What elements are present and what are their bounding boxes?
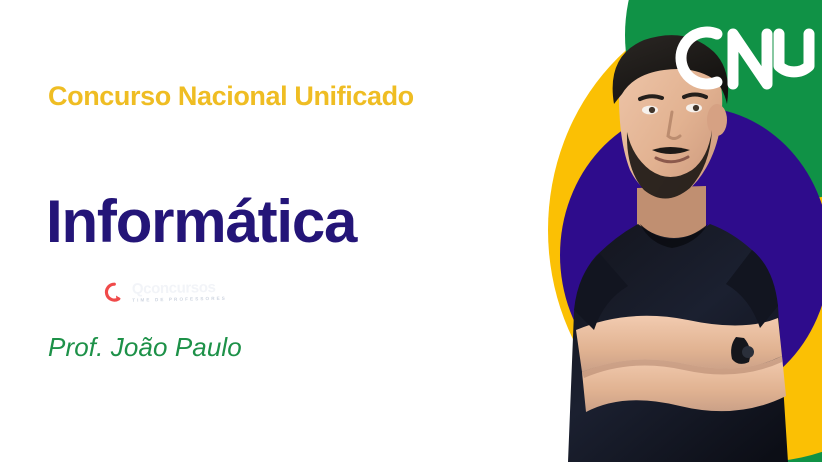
slide-text-column: Concurso Nacional Unificado Informática … xyxy=(0,0,540,462)
slide-title: Informática xyxy=(46,192,356,252)
purple-circle-shape xyxy=(560,107,822,403)
brand-graphic-panel xyxy=(520,0,822,462)
presentation-slide: Qconcursos TIME DE PROFESSORES Concurso … xyxy=(0,0,822,462)
slide-presenter: Prof. João Paulo xyxy=(48,332,242,363)
slide-eyebrow: Concurso Nacional Unificado xyxy=(48,81,414,112)
